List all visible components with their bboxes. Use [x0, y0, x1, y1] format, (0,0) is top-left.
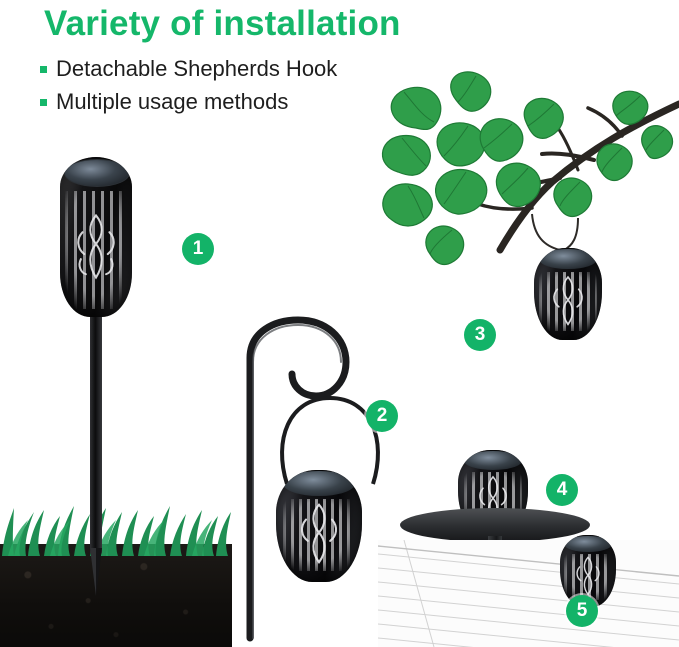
page-title: Variety of installation — [44, 4, 401, 44]
filigree-pattern-icon — [71, 197, 121, 299]
feature-bullet-2: Multiple usage methods — [40, 89, 288, 115]
torch-pole — [90, 300, 102, 555]
grass-patch — [0, 494, 232, 556]
feature-bullet-1: Detachable Shepherds Hook — [40, 56, 337, 82]
badge-5: 5 — [566, 595, 598, 627]
badge-2: 2 — [366, 400, 398, 432]
filigree-pattern-icon — [547, 274, 589, 327]
solar-panel-cap — [464, 451, 523, 470]
square-bullet-icon — [40, 99, 47, 106]
filigree-pattern-icon — [292, 501, 345, 566]
feature-bullet-2-label: Multiple usage methods — [56, 89, 288, 115]
feature-bullet-1-label: Detachable Shepherds Hook — [56, 56, 337, 82]
solar-panel-cap — [564, 536, 611, 552]
torch-head — [60, 157, 132, 317]
solar-panel-cap — [283, 471, 355, 496]
lantern-on-branch — [534, 248, 602, 340]
solar-panel-cap — [539, 249, 596, 269]
badge-1: 1 — [182, 233, 214, 265]
tree-branch-setup: 3 — [382, 86, 679, 346]
tree-branch-icon — [382, 86, 679, 346]
wooden-deck — [378, 540, 679, 647]
square-bullet-icon — [40, 66, 47, 73]
shepherds-hook-setup: 2 — [240, 318, 360, 638]
product-infographic: Variety of installation Detachable Sheph… — [0, 0, 679, 647]
badge-3: 3 — [464, 319, 496, 351]
filigree-pattern-icon — [571, 555, 606, 597]
ground-stake-icon — [84, 548, 108, 596]
leaf-cluster — [382, 72, 672, 265]
soil-cross-section — [0, 544, 232, 647]
deck-boards-icon — [378, 540, 679, 647]
badge-4: 4 — [546, 474, 578, 506]
grass-blades-icon — [0, 494, 232, 556]
lantern-on-hook — [276, 470, 362, 582]
solar-panel-cap — [64, 159, 129, 187]
